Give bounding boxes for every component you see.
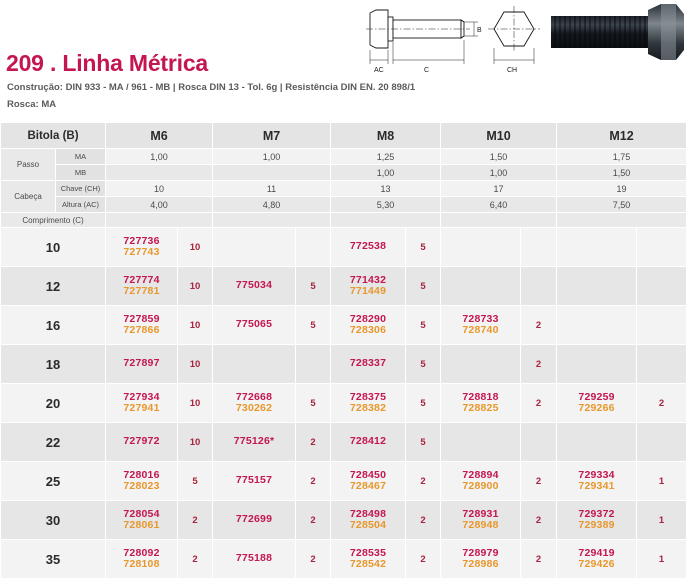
spec-value-passo-ma-m8: 1,25 xyxy=(331,149,441,165)
product-code-cell-m6[interactable]: 728016728023 xyxy=(106,462,178,501)
package-qty-m6: 2 xyxy=(178,540,213,579)
package-qty-m8: 5 xyxy=(406,306,441,345)
product-code-cell-m6[interactable]: 727972 xyxy=(106,423,178,462)
product-code-ma: 728054 xyxy=(106,509,177,520)
header-size-m6: M6 xyxy=(106,123,213,149)
product-code-cell-m6[interactable]: 727774727781 xyxy=(106,267,178,306)
package-qty-m8: 5 xyxy=(406,228,441,267)
product-code-ma: 728894 xyxy=(441,470,520,481)
product-code-cell-m7[interactable] xyxy=(213,345,296,384)
length-value: 35 xyxy=(1,540,106,579)
product-code-ma: 775034 xyxy=(213,280,295,291)
spec-value-passo-ma-m7: 1,00 xyxy=(213,149,331,165)
product-code-mb: 771449 xyxy=(331,286,405,297)
package-qty-m8: 5 xyxy=(406,384,441,423)
spec-row-altura: Altura (AC) 4,00 4,80 5,30 6,40 7,50 xyxy=(1,197,686,213)
spec-row-passo-ma: Passo MA 1,00 1,00 1,25 1,50 1,75 xyxy=(1,149,686,165)
package-qty-m12: 1 xyxy=(637,462,686,501)
product-code-ma: 728337 xyxy=(331,358,405,369)
length-section-label: Comprimento (C) xyxy=(1,213,106,228)
spec-value-chave-m7: 11 xyxy=(213,181,331,197)
product-code-ma: 728498 xyxy=(331,509,405,520)
product-code-ma: 728535 xyxy=(331,548,405,559)
spec-value-passo-mb-m8: 1,00 xyxy=(331,165,441,181)
package-qty-m12 xyxy=(637,423,686,462)
product-code-cell-m12[interactable] xyxy=(557,267,637,306)
package-qty-m6: 10 xyxy=(178,345,213,384)
spec-value-altura-m8: 5,30 xyxy=(331,197,441,213)
package-qty-m8: 2 xyxy=(406,501,441,540)
package-qty-m8: 5 xyxy=(406,423,441,462)
package-qty-m7: 5 xyxy=(296,267,331,306)
product-code-mb: 728825 xyxy=(441,403,520,414)
package-qty-m10 xyxy=(521,267,557,306)
package-qty-m7: 5 xyxy=(296,306,331,345)
package-qty-m7 xyxy=(296,228,331,267)
spec-value-passo-mb-m12: 1,50 xyxy=(557,165,686,181)
package-qty-m8: 2 xyxy=(406,462,441,501)
length-value: 30 xyxy=(1,501,106,540)
package-qty-m12 xyxy=(637,345,686,384)
product-code-cell-m7[interactable]: 772668730262 xyxy=(213,384,296,423)
length-value: 18 xyxy=(1,345,106,384)
product-code-ma: 728450 xyxy=(331,470,405,481)
product-code-mb: 728900 xyxy=(441,481,520,492)
product-code-mb: 728986 xyxy=(441,559,520,570)
package-qty-m7: 2 xyxy=(296,462,331,501)
spec-value-chave-m6: 10 xyxy=(106,181,213,197)
spec-value-passo-ma-m10: 1,50 xyxy=(441,149,557,165)
product-code-mb: 727941 xyxy=(106,403,177,414)
dimension-label-ch: CH xyxy=(507,67,517,74)
table-row: 3572809272810827751882728535728542272897… xyxy=(1,540,686,579)
product-code-cell-m10[interactable]: 728818728825 xyxy=(441,384,521,423)
length-value: 12 xyxy=(1,267,106,306)
spec-value-altura-m12: 7,50 xyxy=(557,197,686,213)
bolt-product-photo xyxy=(551,0,686,66)
product-code-mb: 728542 xyxy=(331,559,405,570)
package-qty-m10: 2 xyxy=(521,384,557,423)
product-code-mb: 729389 xyxy=(557,520,636,531)
product-code-cell-m6[interactable]: 728092728108 xyxy=(106,540,178,579)
package-qty-m12: 1 xyxy=(637,540,686,579)
package-qty-m7: 2 xyxy=(296,540,331,579)
package-qty-m10: 2 xyxy=(521,462,557,501)
spec-value-chave-m10: 17 xyxy=(441,181,557,197)
spec-label-passo-ma: MA xyxy=(56,149,106,165)
product-code-cell-m10[interactable] xyxy=(441,267,521,306)
product-code-cell-m12[interactable]: 729372729389 xyxy=(557,501,637,540)
length-value: 10 xyxy=(1,228,106,267)
product-code-cell-m12[interactable]: 729259729266 xyxy=(557,384,637,423)
package-qty-m7: 2 xyxy=(296,423,331,462)
length-section-label-row: Comprimento (C) xyxy=(1,213,686,228)
product-code-cell-m10[interactable] xyxy=(441,345,521,384)
dimension-label-b: B xyxy=(477,27,482,34)
package-qty-m7 xyxy=(296,345,331,384)
table-row: 3072805472806127726992728498728504272893… xyxy=(1,501,686,540)
length-spacer-m10 xyxy=(441,213,557,228)
package-qty-m10: 2 xyxy=(521,540,557,579)
length-spacer-m8 xyxy=(331,213,441,228)
product-code-ma: 728931 xyxy=(441,509,520,520)
length-rows-body: 1072773672774310772538512727774727781107… xyxy=(1,228,686,579)
product-code-mb: 727866 xyxy=(106,325,177,336)
length-value: 22 xyxy=(1,423,106,462)
product-code-cell-m7[interactable]: 775065 xyxy=(213,306,296,345)
product-code-cell-m6[interactable]: 727859727866 xyxy=(106,306,178,345)
product-code-cell-m10[interactable] xyxy=(441,423,521,462)
product-code-mb: 728306 xyxy=(331,325,405,336)
package-qty-m10 xyxy=(521,228,557,267)
package-qty-m12 xyxy=(637,228,686,267)
length-value: 20 xyxy=(1,384,106,423)
table-header-row: Bitola (B) M6 M7 M8 M10 M12 xyxy=(1,123,686,149)
product-code-cell-m12[interactable] xyxy=(557,306,637,345)
length-value: 25 xyxy=(1,462,106,501)
product-code-mb: 728467 xyxy=(331,481,405,492)
product-code-cell-m8[interactable]: 728290728306 xyxy=(331,306,406,345)
spec-value-passo-mb-m10: 1,00 xyxy=(441,165,557,181)
package-qty-m6: 10 xyxy=(178,228,213,267)
product-code-ma: 775065 xyxy=(213,319,295,330)
spec-value-passo-mb-m6 xyxy=(106,165,213,181)
product-code-ma: 727972 xyxy=(106,436,177,447)
product-code-cell-m8[interactable]: 728375728382 xyxy=(331,384,406,423)
header-size-m7: M7 xyxy=(213,123,331,149)
length-spacer-m12 xyxy=(557,213,686,228)
table-row: 2572801672802357751572728450728467272889… xyxy=(1,462,686,501)
table-row: 10727736727743107725385 xyxy=(1,228,686,267)
package-qty-m6: 10 xyxy=(178,423,213,462)
table-row: 127277747277811077503457714327714495 xyxy=(1,267,686,306)
product-code-cell-m7[interactable]: 775188 xyxy=(213,540,296,579)
product-code-cell-m7[interactable]: 775157 xyxy=(213,462,296,501)
spec-row-passo-mb: MB 1,00 1,00 1,50 xyxy=(1,165,686,181)
product-code-cell-m12[interactable]: 729334729341 xyxy=(557,462,637,501)
product-code-cell-m10[interactable]: 728979728986 xyxy=(441,540,521,579)
page-header: 209 . Linha Métrica Construção: DIN 933 … xyxy=(0,0,686,122)
spec-group-passo: Passo xyxy=(1,149,56,181)
table-row: 2272797210775126*27284125 xyxy=(1,423,686,462)
header-bitola: Bitola (B) xyxy=(1,123,106,149)
product-code-cell-m6[interactable]: 727934727941 xyxy=(106,384,178,423)
product-code-mb: 728504 xyxy=(331,520,405,531)
package-qty-m10: 2 xyxy=(521,345,557,384)
product-code-cell-m7[interactable] xyxy=(213,228,296,267)
package-qty-m6: 2 xyxy=(178,501,213,540)
product-code-mb: 728023 xyxy=(106,481,177,492)
product-code-mb: 727743 xyxy=(106,247,177,258)
product-code-cell-m8[interactable]: 728337 xyxy=(331,345,406,384)
table-row: 2072793472794110772668730262572837572838… xyxy=(1,384,686,423)
package-qty-m8: 2 xyxy=(406,540,441,579)
package-qty-m12: 1 xyxy=(637,501,686,540)
package-qty-m12 xyxy=(637,267,686,306)
dimension-label-ac: AC xyxy=(374,67,384,74)
product-code-ma: 775188 xyxy=(213,553,295,564)
package-qty-m6: 5 xyxy=(178,462,213,501)
product-code-ma: 729372 xyxy=(557,509,636,520)
product-code-cell-m8[interactable]: 728498728504 xyxy=(331,501,406,540)
spec-value-passo-mb-m7 xyxy=(213,165,331,181)
package-qty-m7: 2 xyxy=(296,501,331,540)
spec-value-altura-m7: 4,80 xyxy=(213,197,331,213)
product-code-cell-m10[interactable]: 728733728740 xyxy=(441,306,521,345)
package-qty-m12 xyxy=(637,306,686,345)
spec-value-passo-ma-m6: 1,00 xyxy=(106,149,213,165)
package-qty-m6: 10 xyxy=(178,267,213,306)
header-size-m8: M8 xyxy=(331,123,441,149)
product-code-cell-m6[interactable]: 727897 xyxy=(106,345,178,384)
product-code-mb: 729426 xyxy=(557,559,636,570)
thread-spec-line: Rosca: MA xyxy=(7,99,56,110)
length-value: 16 xyxy=(1,306,106,345)
package-qty-m7: 5 xyxy=(296,384,331,423)
metric-bolt-catalog-table: Bitola (B) M6 M7 M8 M10 M12 Passo MA 1,0… xyxy=(0,122,686,579)
package-qty-m8: 5 xyxy=(406,345,441,384)
length-spacer-m7 xyxy=(213,213,331,228)
product-code-ma: 775126* xyxy=(213,436,295,447)
package-qty-m12: 2 xyxy=(637,384,686,423)
product-code-ma: 775157 xyxy=(213,475,295,486)
product-code-cell-m10[interactable] xyxy=(441,228,521,267)
product-code-ma: 728016 xyxy=(106,470,177,481)
package-qty-m10: 2 xyxy=(521,501,557,540)
product-code-cell-m7[interactable]: 775034 xyxy=(213,267,296,306)
product-code-cell-m12[interactable] xyxy=(557,423,637,462)
spec-value-passo-ma-m12: 1,75 xyxy=(557,149,686,165)
product-code-ma: 772538 xyxy=(331,241,405,252)
spec-value-altura-m6: 4,00 xyxy=(106,197,213,213)
product-code-ma: 772699 xyxy=(213,514,295,525)
product-code-cell-m10[interactable]: 728894728900 xyxy=(441,462,521,501)
product-code-cell-m10[interactable]: 728931728948 xyxy=(441,501,521,540)
product-code-cell-m7[interactable]: 772699 xyxy=(213,501,296,540)
spec-group-cabeca: Cabeça xyxy=(1,181,56,213)
spec-value-chave-m12: 19 xyxy=(557,181,686,197)
product-code-mb: 728740 xyxy=(441,325,520,336)
product-code-cell-m8[interactable]: 728535728542 xyxy=(331,540,406,579)
product-code-ma: 728412 xyxy=(331,436,405,447)
table-row: 187278971072833752 xyxy=(1,345,686,384)
product-code-ma: 729419 xyxy=(557,548,636,559)
header-size-m12: M12 xyxy=(557,123,686,149)
table-row: 1672785972786610775065572829072830657287… xyxy=(1,306,686,345)
spec-value-chave-m8: 13 xyxy=(331,181,441,197)
product-code-mb: 728061 xyxy=(106,520,177,531)
spec-value-altura-m10: 6,40 xyxy=(441,197,557,213)
product-code-cell-m12[interactable] xyxy=(557,228,637,267)
product-code-cell-m8[interactable]: 772538 xyxy=(331,228,406,267)
package-qty-m10: 2 xyxy=(521,306,557,345)
bolt-technical-drawing: AC C B CH xyxy=(358,2,550,74)
spec-label-altura: Altura (AC) xyxy=(56,197,106,213)
package-qty-m6: 10 xyxy=(178,384,213,423)
product-code-mb: 727781 xyxy=(106,286,177,297)
product-code-ma: 727897 xyxy=(106,358,177,369)
product-code-cell-m8[interactable]: 771432771449 xyxy=(331,267,406,306)
spec-row-chave: Cabeça Chave (CH) 10 11 13 17 19 xyxy=(1,181,686,197)
page-title: 209 . Linha Métrica xyxy=(6,50,208,77)
product-code-ma: 728092 xyxy=(106,548,177,559)
product-code-cell-m12[interactable] xyxy=(557,345,637,384)
page-subtitle: Construção: DIN 933 - MA / 961 - MB | Ro… xyxy=(7,82,415,93)
product-code-mb: 729266 xyxy=(557,403,636,414)
product-code-mb: 728382 xyxy=(331,403,405,414)
header-size-m10: M10 xyxy=(441,123,557,149)
product-code-cell-m6[interactable]: 727736727743 xyxy=(106,228,178,267)
product-code-cell-m8[interactable]: 728412 xyxy=(331,423,406,462)
package-qty-m8: 5 xyxy=(406,267,441,306)
product-code-cell-m7[interactable]: 775126* xyxy=(213,423,296,462)
product-code-mb: 729341 xyxy=(557,481,636,492)
product-code-cell-m12[interactable]: 729419729426 xyxy=(557,540,637,579)
product-code-cell-m8[interactable]: 728450728467 xyxy=(331,462,406,501)
product-code-mb: 730262 xyxy=(213,403,295,414)
spec-label-passo-mb: MB xyxy=(56,165,106,181)
dimension-label-c: C xyxy=(424,67,429,74)
product-code-ma: 728979 xyxy=(441,548,520,559)
product-code-cell-m6[interactable]: 728054728061 xyxy=(106,501,178,540)
length-spacer-m6 xyxy=(106,213,213,228)
spec-label-chave: Chave (CH) xyxy=(56,181,106,197)
package-qty-m6: 10 xyxy=(178,306,213,345)
package-qty-m10 xyxy=(521,423,557,462)
product-code-mb: 728948 xyxy=(441,520,520,531)
product-code-ma: 729334 xyxy=(557,470,636,481)
product-code-mb: 728108 xyxy=(106,559,177,570)
